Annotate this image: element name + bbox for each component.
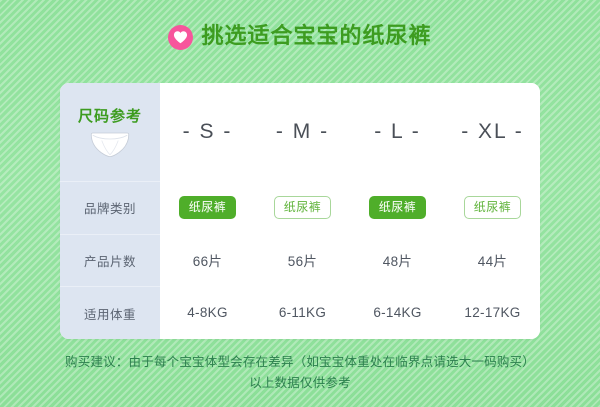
diaper-icon <box>87 130 133 160</box>
table-cell: 纸尿裤 <box>160 196 255 219</box>
cell-value: 4-8KG <box>187 305 228 320</box>
size-header-s: - S - <box>160 120 255 144</box>
footer-note: 购买建议：由于每个宝宝体型会存在差异（如宝宝体重处在临界点请选大一码购买） 以上… <box>0 352 600 393</box>
cell-value: 66片 <box>193 250 222 270</box>
table-cell: 66片 <box>160 250 255 270</box>
size-chart-card: 尺码参考 品牌类别 产品片数 适用体重 - S - - M - <box>60 83 540 339</box>
size-label-m: - M - <box>276 120 329 144</box>
size-label-xl: - XL - <box>461 120 524 144</box>
table-row-piece-count: 66片 56片 48片 44片 <box>160 234 540 287</box>
status-badge: 纸尿裤 <box>464 196 522 219</box>
size-header-row: - S - - M - - L - - XL - <box>160 83 540 181</box>
table-cell: 48片 <box>350 250 445 270</box>
cell-value: 44片 <box>478 250 507 270</box>
cell-value: 6-11KG <box>279 305 326 320</box>
table-cell: 4-8KG <box>160 305 255 320</box>
cell-value: 56片 <box>288 250 317 270</box>
size-label-l: - L - <box>374 120 421 144</box>
table-cell: 纸尿裤 <box>350 196 445 219</box>
status-badge: 纸尿裤 <box>179 196 237 219</box>
cell-value: 6-14KG <box>373 305 421 320</box>
row-label-suitable-weight: 适用体重 <box>60 287 160 339</box>
table-cell: 44片 <box>445 250 540 270</box>
page-header: 挑选适合宝宝的纸尿裤 <box>0 0 600 72</box>
page-title: 挑选适合宝宝的纸尿裤 <box>201 25 431 47</box>
table-cell: 12-17KG <box>445 305 540 320</box>
size-reference-label: 尺码参考 <box>78 105 142 126</box>
table-row-brand-category: 纸尿裤 纸尿裤 纸尿裤 纸尿裤 <box>160 181 540 234</box>
status-badge: 纸尿裤 <box>274 196 332 219</box>
table-row-suitable-weight: 4-8KG 6-11KG 6-14KG 12-17KG <box>160 286 540 339</box>
cell-value: 12-17KG <box>464 305 520 320</box>
size-label-s: - S - <box>183 120 233 144</box>
table-cell: 56片 <box>255 250 350 270</box>
heart-icon <box>168 25 193 50</box>
row-label-brand-category: 品牌类别 <box>60 182 160 235</box>
size-header-xl: - XL - <box>445 120 540 144</box>
table-cell: 6-11KG <box>255 305 350 320</box>
table-cell: 纸尿裤 <box>445 196 540 219</box>
cell-value: 48片 <box>383 250 412 270</box>
footer-line-2: 以上数据仅供参考 <box>0 373 600 394</box>
data-column: - S - - M - - L - - XL - 纸尿裤 纸尿裤 纸尿裤 <box>160 83 540 339</box>
row-label-piece-count: 产品片数 <box>60 235 160 288</box>
table-cell: 6-14KG <box>350 305 445 320</box>
size-header-m: - M - <box>255 120 350 144</box>
footer-line-1: 购买建议：由于每个宝宝体型会存在差异（如宝宝体重处在临界点请选大一码购买） <box>0 352 600 373</box>
status-badge: 纸尿裤 <box>369 196 427 219</box>
table-cell: 纸尿裤 <box>255 196 350 219</box>
label-column: 尺码参考 品牌类别 产品片数 适用体重 <box>60 83 160 339</box>
size-header-l: - L - <box>350 120 445 144</box>
size-reference-header: 尺码参考 <box>60 83 160 182</box>
